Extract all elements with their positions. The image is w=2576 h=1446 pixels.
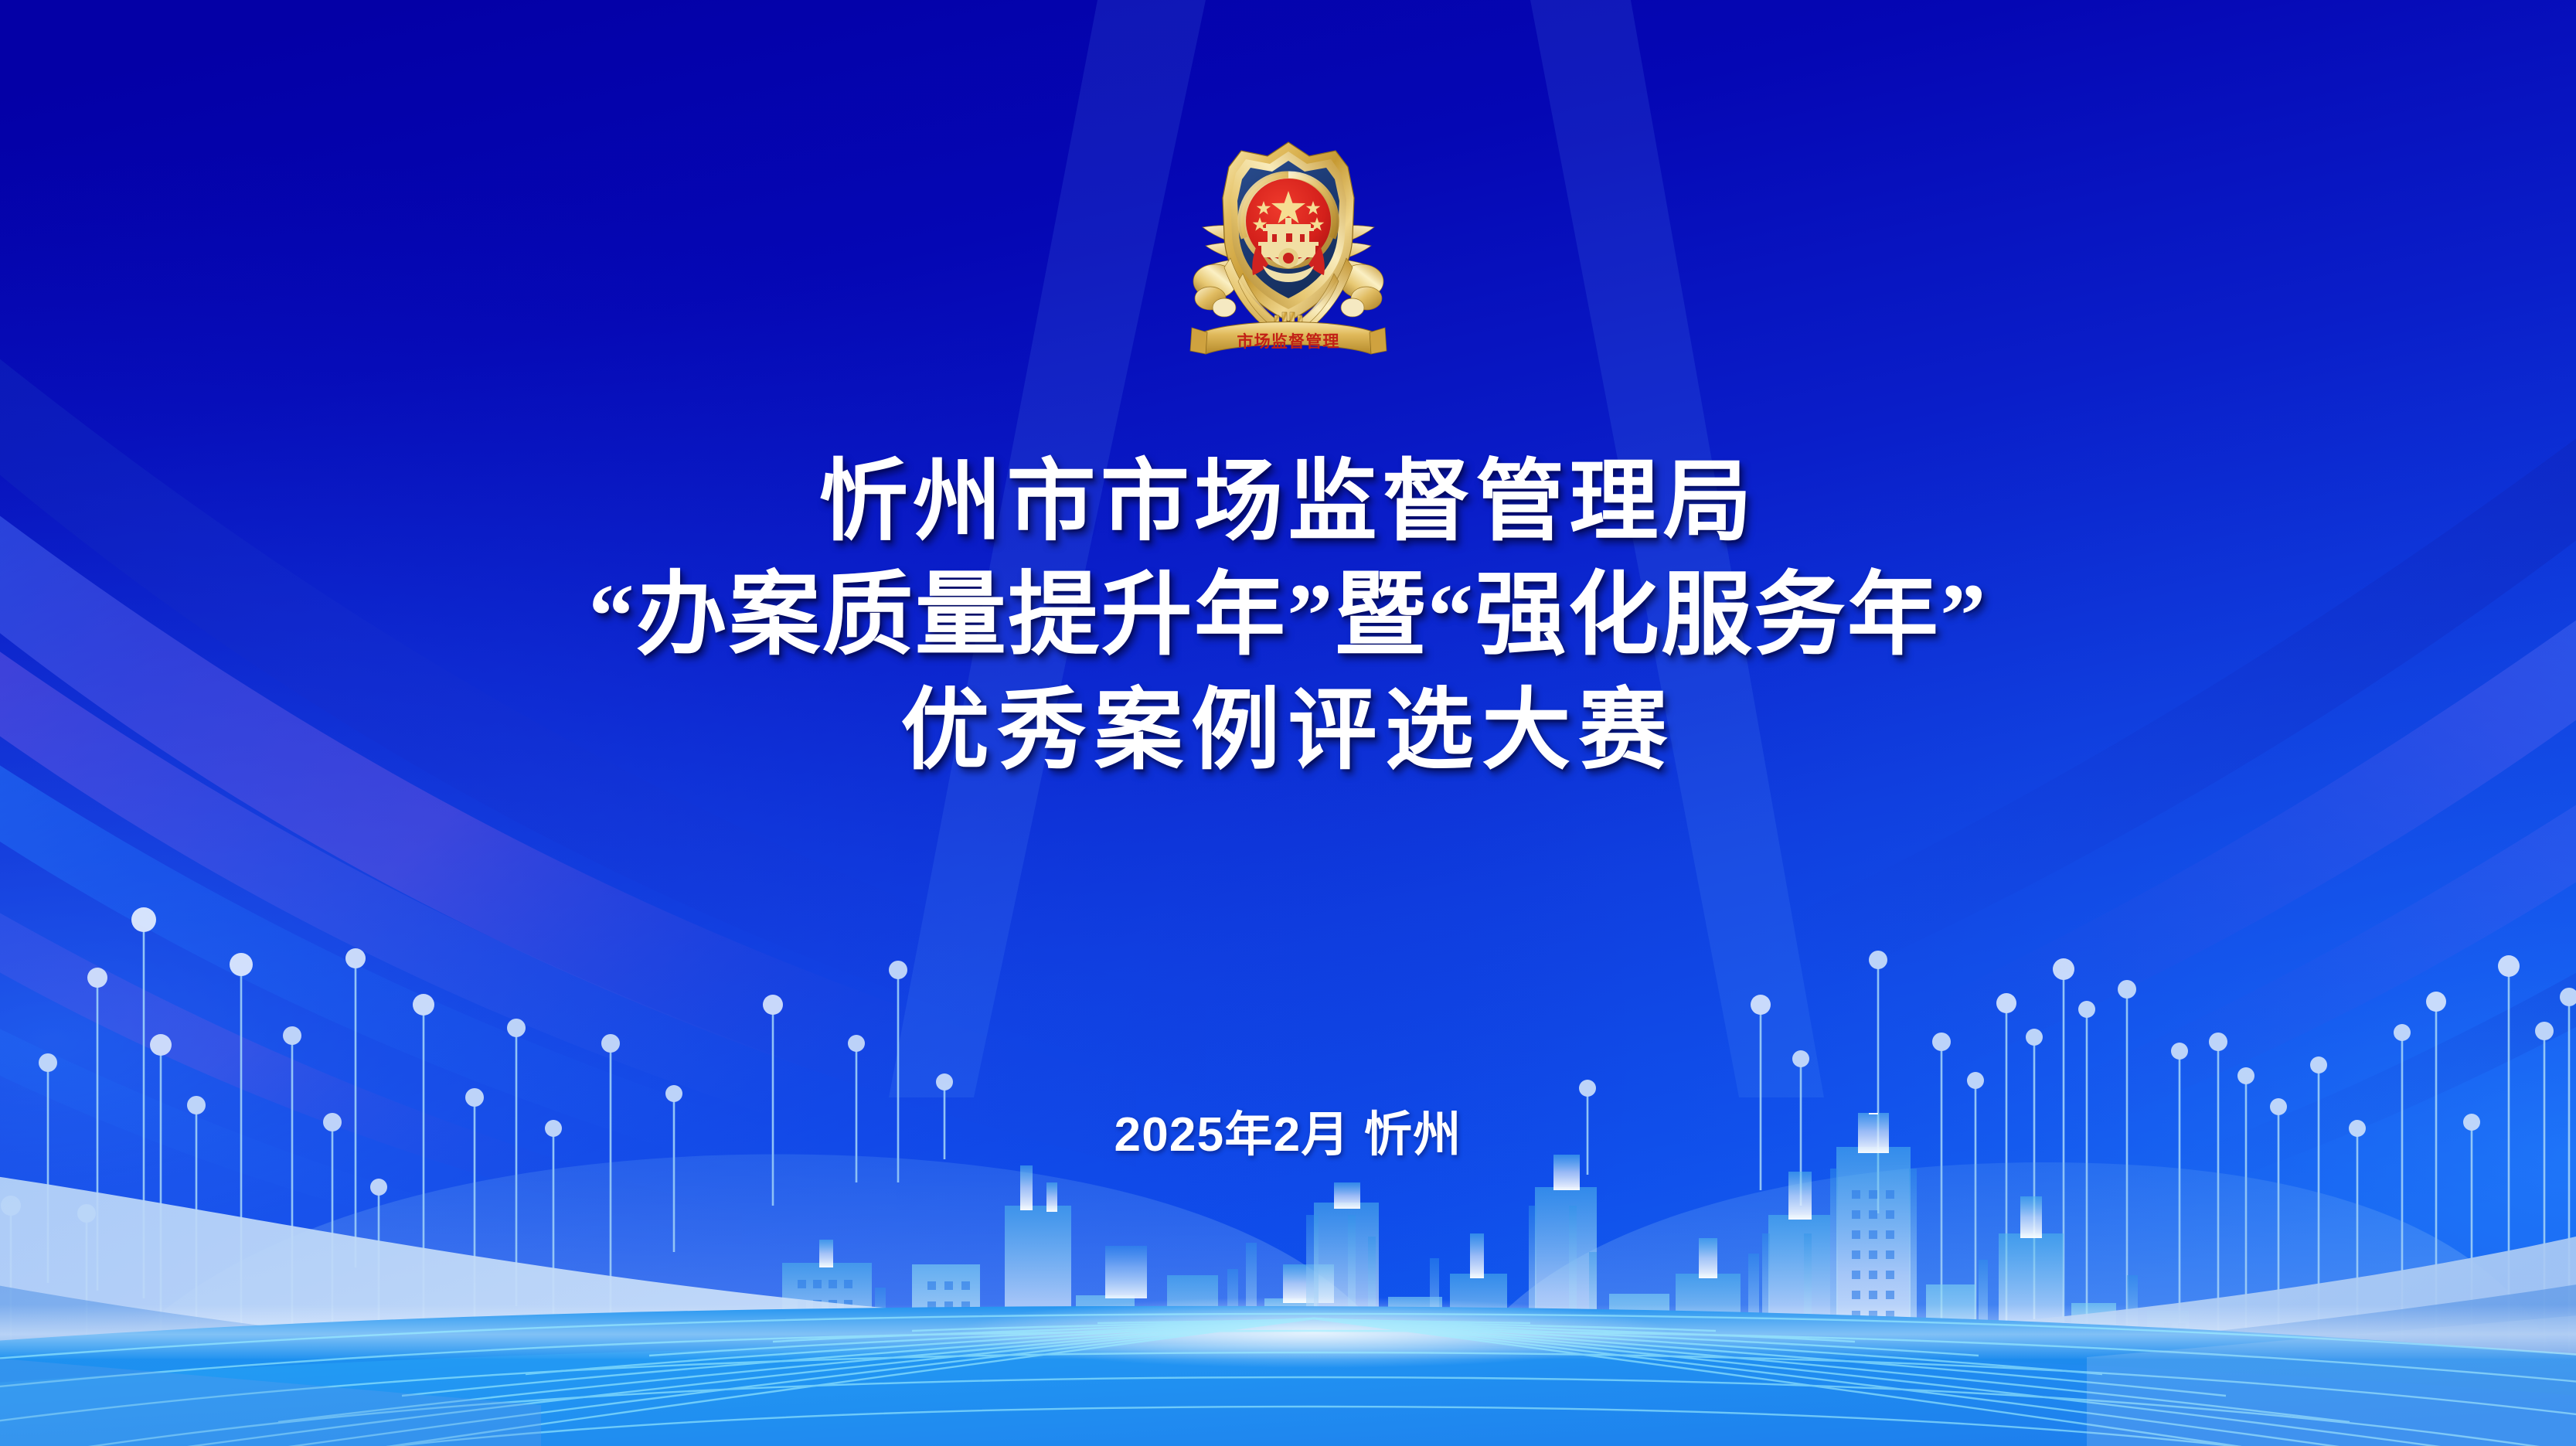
title-line-3: 优秀案例评选大赛 (0, 675, 2576, 788)
emblem-ribbon: 市场监督管理 (1190, 322, 1387, 355)
poster-canvas: 市场监督管理 忻州市市场监督管理局 “办案质量提升年”暨“强化服务年” 优秀案例… (0, 0, 2576, 1446)
emblem-ribbon-text: 市场监督管理 (1237, 332, 1339, 351)
title-line-2: “办案质量提升年”暨“强化服务年” (0, 556, 2576, 675)
market-supervision-administration-emblem: 市场监督管理 (1176, 130, 1400, 362)
date-location-text: 2025年2月 忻州 (0, 1095, 2576, 1165)
title-block: 忻州市市场监督管理局 “办案质量提升年”暨“强化服务年” 优秀案例评选大赛 (0, 448, 2576, 788)
national-emblem-disc (1240, 173, 1336, 282)
title-line-1: 忻州市市场监督管理局 (0, 448, 2576, 556)
